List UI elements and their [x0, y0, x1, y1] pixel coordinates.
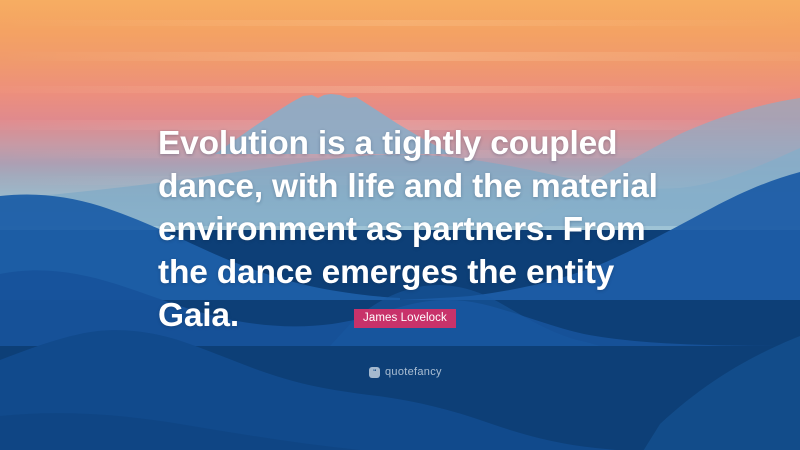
- quotefancy-watermark[interactable]: “ quotefancy: [369, 366, 442, 378]
- quote-poster: Evolution is a tightly coupled dance, wi…: [0, 0, 800, 450]
- quote-mark-logo-icon: “: [369, 367, 380, 378]
- author-name-badge[interactable]: James Lovelock: [354, 309, 456, 328]
- cloud-streak: [0, 20, 800, 26]
- watermark-brand-label: quotefancy: [385, 366, 442, 378]
- quote-text: Evolution is a tightly coupled dance, wi…: [158, 122, 664, 337]
- cloud-streak: [0, 52, 800, 61]
